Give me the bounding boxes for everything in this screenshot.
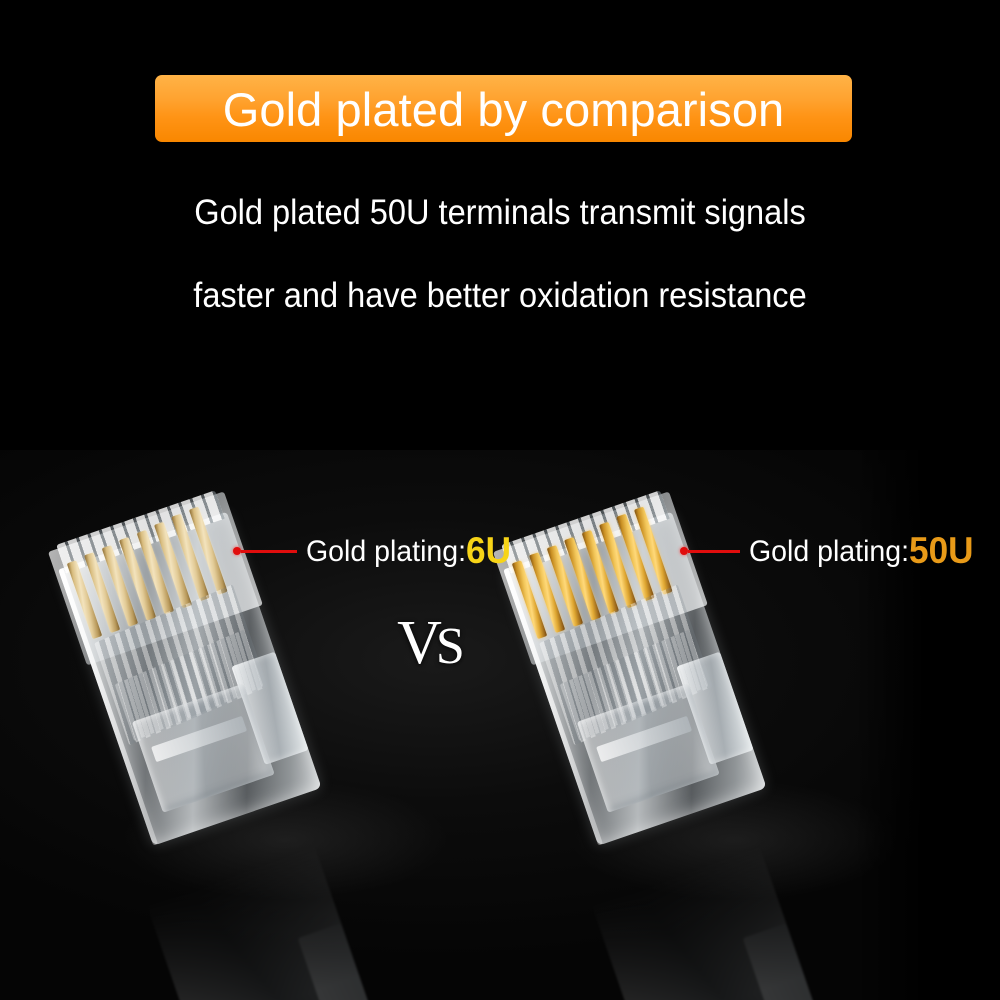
leader-line-icon <box>688 550 740 553</box>
annotation-left-label: Gold plating: <box>306 535 466 568</box>
leader-dot-icon <box>680 547 688 555</box>
banner-title: Gold plated by comparison <box>223 86 785 133</box>
annotation-right: Gold plating:50U <box>680 530 985 572</box>
annotation-right-text: Gold plating:50U <box>749 530 974 572</box>
leader-line-icon <box>241 550 297 553</box>
versus-s: S <box>436 618 465 675</box>
subtitle-line-2: faster and have better oxidation resista… <box>35 276 965 316</box>
annotation-right-value: 50U <box>909 530 973 571</box>
annotation-left: Gold plating:6U <box>233 530 522 572</box>
header-text-area: Gold plated by comparison Gold plated 50… <box>0 0 1000 450</box>
product-comparison-image: Gold plated by comparison Gold plated 50… <box>0 0 1000 1000</box>
headline-banner: Gold plated by comparison <box>155 75 852 142</box>
annotation-left-value: 6U <box>466 530 511 571</box>
annotation-right-label: Gold plating: <box>749 535 909 568</box>
annotation-left-text: Gold plating:6U <box>306 530 511 572</box>
leader-dot-icon <box>233 547 241 555</box>
versus-separator: VS <box>376 612 486 674</box>
subtitle-line-1: Gold plated 50U terminals transmit signa… <box>35 193 965 233</box>
